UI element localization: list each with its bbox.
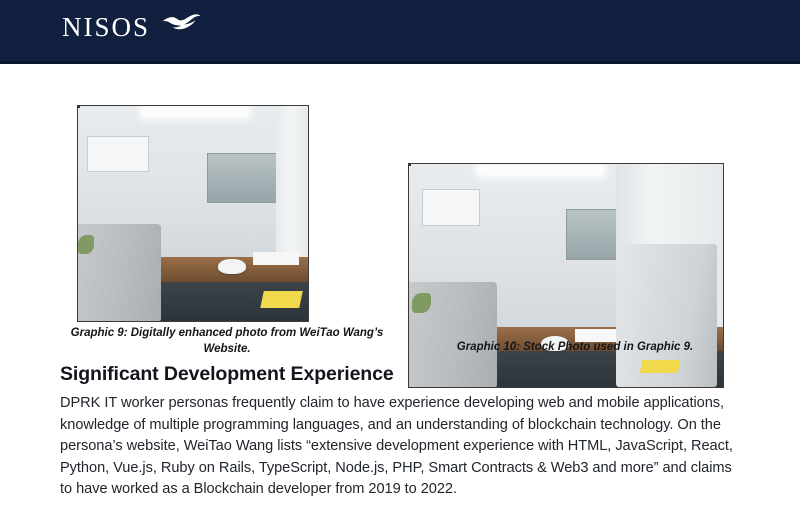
computer-mouse bbox=[218, 259, 246, 274]
brand-wordmark: NISOS bbox=[62, 14, 150, 41]
page-content: Graphic 9: Digitally enhanced photo from… bbox=[0, 64, 800, 507]
article-body: DPRK IT worker personas frequently claim… bbox=[60, 393, 744, 501]
nisos-logo: NISOS bbox=[62, 14, 202, 41]
article-section: Significant Development Experience DPRK … bbox=[60, 363, 744, 501]
seagull-icon bbox=[160, 12, 202, 38]
figure-caption-graphic-9: Graphic 9: Digitally enhanced photo from… bbox=[62, 326, 392, 357]
digitally-enhanced-photo bbox=[77, 105, 309, 322]
page-header: NISOS bbox=[0, 0, 800, 61]
sticky-note bbox=[260, 291, 303, 308]
paper-stack bbox=[253, 252, 299, 265]
figure-caption-graphic-10: Graphic 10: Stock Photo used in Graphic … bbox=[430, 340, 720, 356]
section-heading: Significant Development Experience bbox=[60, 363, 744, 386]
